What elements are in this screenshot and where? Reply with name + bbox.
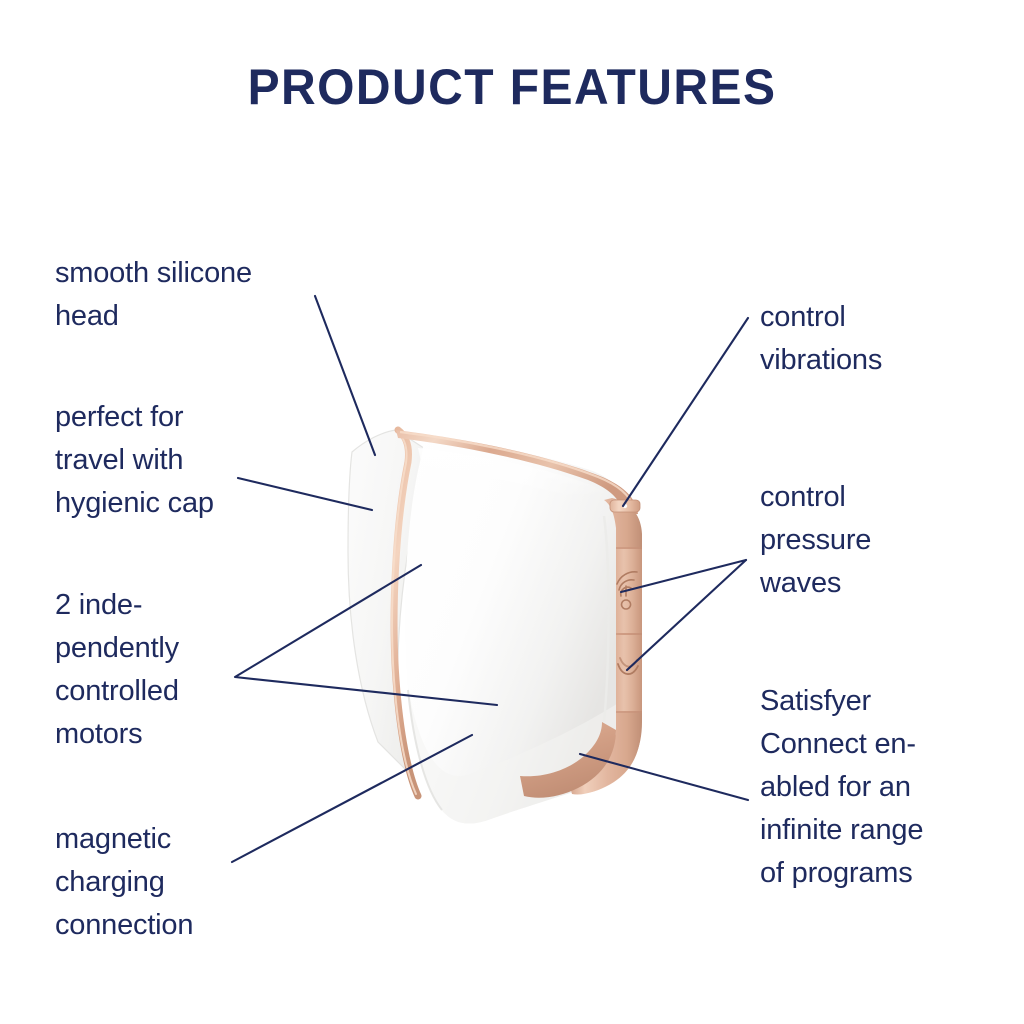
leader-lines-layer	[0, 0, 1024, 1024]
leader-line-control-vibrations	[623, 318, 748, 506]
product-features-infographic: PRODUCT FEATURES	[0, 0, 1024, 1024]
leader-line-smooth-silicone-head	[315, 296, 375, 455]
leader-line-satisfyer-connect	[580, 754, 748, 800]
leader-line-perfect-for-travel	[238, 478, 372, 510]
leader-line-two-motors	[235, 565, 497, 705]
leader-line-pressure-waves-lower	[627, 560, 746, 670]
leader-line-magnetic-charging	[232, 735, 472, 862]
